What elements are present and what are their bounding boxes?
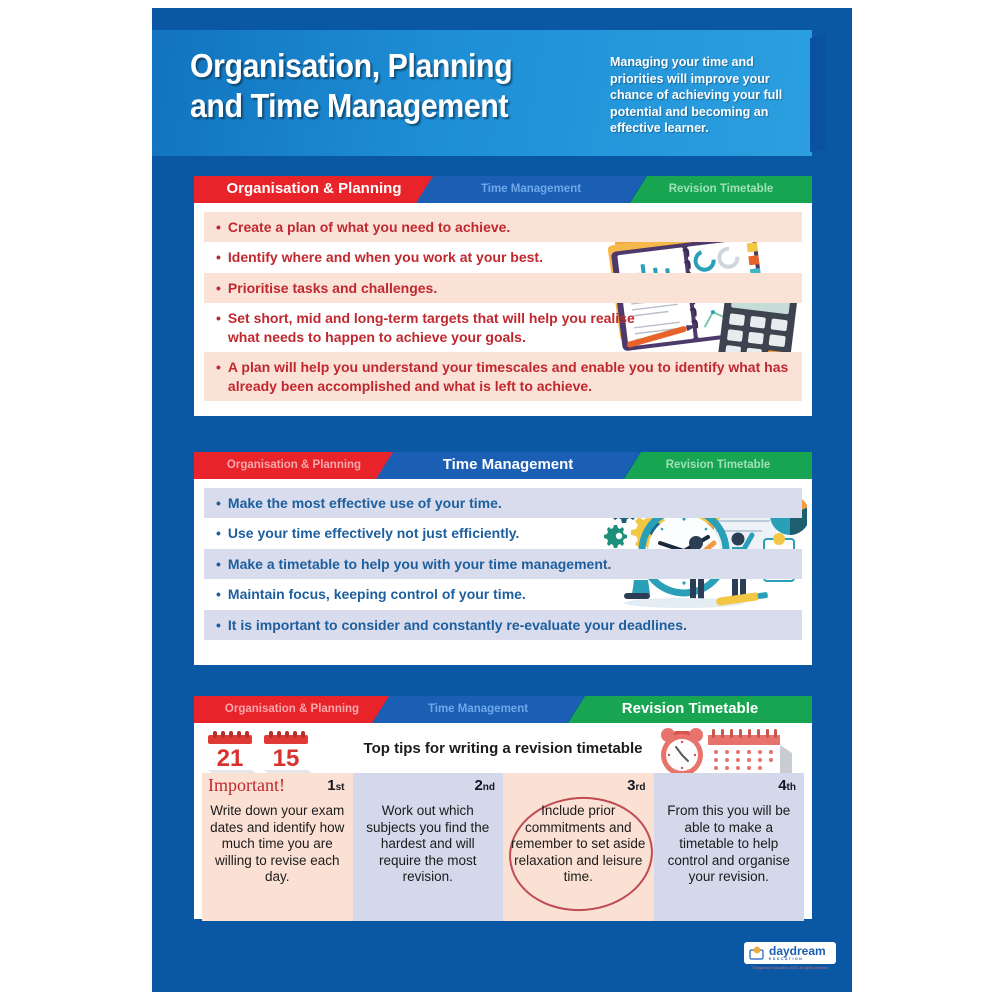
bullet-text: A plan will help you understand your tim… [228, 358, 794, 395]
tab-label: Revision Timetable [622, 700, 758, 717]
bullet-text: Make a timetable to help you with your t… [228, 555, 612, 573]
tip-ordinal-suffix: th [787, 782, 796, 793]
tabbar-section-3: Organisation & Planning Time Management … [194, 696, 812, 723]
bullet-text: It is important to consider and constant… [228, 616, 687, 634]
bullet-item: • It is important to consider and consta… [204, 610, 802, 640]
tab-label: Time Management [428, 703, 528, 715]
tab-organisation-planning[interactable]: Organisation & Planning [194, 176, 434, 203]
tip-text: Include prior commitments and remember t… [509, 803, 648, 886]
tip-ordinal-number: 1 [327, 777, 335, 794]
tip-column-3: 3rd Include prior commitments and rememb… [503, 773, 654, 921]
tab-label: Organisation & Planning [227, 459, 361, 471]
section-organisation-planning: Organisation & Planning Time Management … [194, 176, 812, 416]
bullet-dot: • [216, 218, 221, 236]
tip-ordinal: 2nd [474, 777, 495, 794]
alarm-clock-calendar-icon [656, 727, 802, 779]
card-time-management: • Make the most effective use of your ti… [194, 479, 812, 665]
bullet-text: Make the most effective use of your time… [228, 494, 502, 512]
bullet-dot: • [216, 585, 221, 603]
tip-text: Work out which subjects you find the har… [359, 803, 498, 886]
title-line-1: Organisation, Planning [190, 46, 576, 86]
bullet-item: • Use your time effectively not just eff… [204, 518, 802, 548]
bullet-text: Prioritise tasks and challenges. [228, 279, 437, 297]
tip-column-2: 2nd Work out which subjects you find the… [353, 773, 504, 921]
bullet-dot: • [216, 555, 221, 573]
card-organisation-planning: • Create a plan of what you need to achi… [194, 203, 812, 416]
logo-box: daydream EDUCATION [744, 942, 836, 964]
daydream-mark-icon [749, 946, 765, 960]
logo-text-group: daydream EDUCATION [769, 945, 826, 961]
bullet-dot: • [216, 616, 221, 634]
bullet-item: • Set short, mid and long-term targets t… [204, 303, 654, 352]
tip-ordinal: 1st [327, 777, 344, 794]
tip-ordinal-number: 2 [474, 777, 482, 794]
tip-ordinal: 3rd [627, 777, 645, 794]
bullet-item: • Maintain focus, keeping control of you… [204, 579, 802, 609]
bullet-text: Use your time effectively not just effic… [228, 524, 519, 542]
tip-text: From this you will be able to make a tim… [660, 803, 799, 886]
tab-label: Time Management [443, 456, 574, 473]
bullet-list-time-management: • Make the most effective use of your ti… [204, 488, 802, 640]
bullet-item: • A plan will help you understand your t… [204, 352, 802, 401]
bullet-item: • Make the most effective use of your ti… [204, 488, 802, 518]
tip-ordinal-suffix: rd [636, 782, 646, 793]
tab-organisation-planning[interactable]: Organisation & Planning [194, 696, 390, 723]
poster-header: Organisation, Planning and Time Manageme… [152, 30, 812, 156]
important-label: Important! [208, 775, 285, 796]
daydream-logo: daydream EDUCATION ©Daydream Education 2… [744, 942, 836, 970]
tab-time-management[interactable]: Time Management [376, 452, 640, 479]
section-time-management: Organisation & Planning Time Management … [194, 452, 812, 665]
tip-ordinal-suffix: nd [483, 782, 495, 793]
tab-revision-timetable[interactable]: Revision Timetable [624, 452, 812, 479]
tab-label: Time Management [481, 183, 581, 195]
bullet-list-organisation: • Create a plan of what you need to achi… [204, 212, 802, 401]
poster-root: Organisation, Planning and Time Manageme… [152, 8, 852, 992]
tip-ordinal-number: 4 [778, 777, 786, 794]
tips-header: 21 15 Top tips [202, 729, 804, 773]
bullet-item: • Prioritise tasks and challenges. [204, 273, 802, 303]
bullet-dot: • [216, 524, 221, 542]
title-line-2: and Time Management [190, 86, 576, 126]
tip-column-1: Important! 1st Write down your exam date… [202, 773, 353, 921]
logo-copyright: ©Daydream Education 2020. All rights res… [744, 966, 836, 970]
bullet-dot: • [216, 309, 221, 327]
tip-ordinal: 4th [778, 777, 796, 794]
card-revision-timetable: 21 15 Top tips [194, 723, 812, 919]
tab-time-management[interactable]: Time Management [372, 696, 584, 723]
bullet-item: • Identify where and when you work at yo… [204, 242, 802, 272]
bullet-dot: • [216, 358, 221, 376]
logo-name: daydream [769, 945, 826, 957]
bullet-item: • Make a timetable to help you with your… [204, 549, 802, 579]
page-title: Organisation, Planning and Time Manageme… [190, 46, 576, 126]
tab-organisation-planning[interactable]: Organisation & Planning [194, 452, 394, 479]
tip-column-4: 4th From this you will be able to make a… [654, 773, 805, 921]
bullet-text: Maintain focus, keeping control of your … [228, 585, 526, 603]
tab-revision-timetable[interactable]: Revision Timetable [568, 696, 812, 723]
bullet-text: Set short, mid and long-term targets tha… [228, 309, 646, 346]
bullet-dot: • [216, 279, 221, 297]
tab-label: Organisation & Planning [225, 703, 359, 715]
tab-time-management[interactable]: Time Management [416, 176, 646, 203]
tips-columns: Important! 1st Write down your exam date… [202, 773, 804, 921]
tabbar-section-1: Organisation & Planning Time Management … [194, 176, 812, 203]
tab-label: Organisation & Planning [226, 180, 401, 197]
bullet-item: • Create a plan of what you need to achi… [204, 212, 802, 242]
bullet-dot: • [216, 248, 221, 266]
tab-label: Revision Timetable [666, 459, 771, 471]
bullet-dot: • [216, 494, 221, 512]
tabbar-section-2: Organisation & Planning Time Management … [194, 452, 812, 479]
bullet-text: Identify where and when you work at your… [228, 248, 543, 266]
bullet-text: Create a plan of what you need to achiev… [228, 218, 510, 236]
tip-ordinal-suffix: st [336, 782, 345, 793]
tab-label: Revision Timetable [669, 183, 774, 195]
tab-revision-timetable[interactable]: Revision Timetable [630, 176, 812, 203]
section-revision-timetable: Organisation & Planning Time Management … [194, 696, 812, 919]
tip-ordinal-number: 3 [627, 777, 635, 794]
tip-text: Write down your exam dates and identify … [208, 803, 347, 886]
header-subtitle: Managing your time and priorities will i… [610, 54, 806, 137]
